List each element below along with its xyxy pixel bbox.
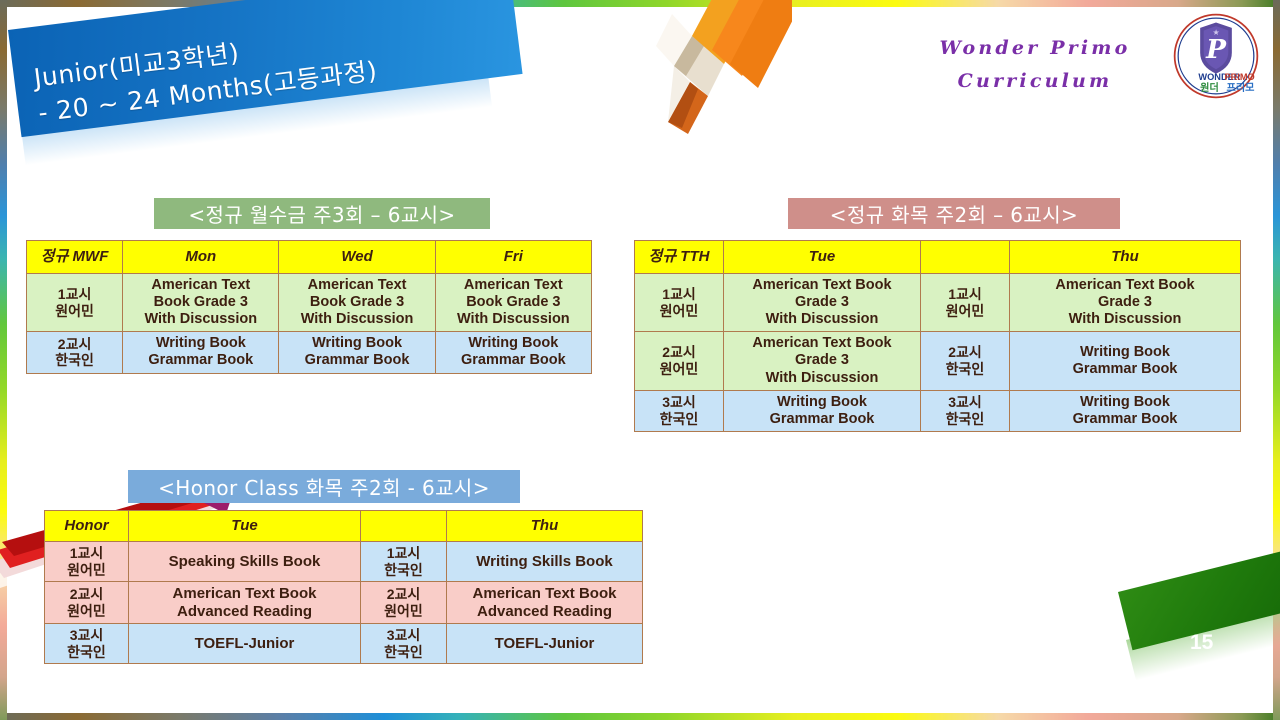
period-label: 2교시 원어민 — [361, 582, 447, 624]
column-header-mon: Mon — [123, 241, 279, 274]
slide-border-left — [0, 0, 7, 720]
column-header-fri: Fri — [435, 241, 591, 274]
slide-border-bottom — [0, 713, 1280, 720]
table-row: 3교시 한국인 Writing Book Grammar Book 3교시 한국… — [635, 390, 1241, 431]
subject-cell: American Text Book Advanced Reading — [447, 582, 643, 624]
subject-cell: Writing Book Grammar Book — [1010, 390, 1241, 431]
period-label: 3교시 한국인 — [361, 624, 447, 664]
column-header-label: 정규 MWF — [27, 241, 123, 274]
schedule-table-honor: Honor Tue Thu 1교시 원어민 Speaking Skills Bo… — [44, 510, 643, 664]
section-title-mwf: <정규 월수금 주3회 – 6교시> — [154, 198, 490, 229]
subject-cell: Writing Book Grammar Book — [1010, 332, 1241, 390]
subject-cell: Writing Book Grammar Book — [279, 332, 435, 373]
subject-cell: American Text Book Grade 3 With Discussi… — [724, 274, 921, 332]
wonder-primo-logo-icon: P ★ WONDER PRIMO 원더 프리모 — [1172, 12, 1260, 100]
logo-korean-right: 프리모 — [1227, 81, 1256, 94]
subject-cell: American Text Book Grade 3 With Discussi… — [1010, 274, 1241, 332]
subject-cell: Writing Book Grammar Book — [123, 332, 279, 373]
column-header-label: 정규 TTH — [635, 241, 724, 274]
logo-korean-left: 원더 — [1200, 81, 1219, 94]
period-label: 2교시 한국인 — [921, 332, 1010, 390]
table-row: 2교시 한국인 Writing Book Grammar Book Writin… — [27, 332, 592, 373]
column-header-tue: Tue — [724, 241, 921, 274]
subject-cell: Writing Book Grammar Book — [724, 390, 921, 431]
column-header-wed: Wed — [279, 241, 435, 274]
table-row: 3교시 한국인 TOEFL-Junior 3교시 한국인 TOEFL-Junio… — [45, 624, 643, 664]
schedule-table-tth: 정규 TTH Tue Thu 1교시 원어민 American Text Boo… — [634, 240, 1241, 432]
logo-monogram: P — [1205, 34, 1227, 65]
column-header-thu: Thu — [447, 511, 643, 542]
subject-cell: Writing Skills Book — [447, 542, 643, 582]
logo-english-right: PRIMO — [1224, 72, 1254, 82]
section-title-tth: <정규 화목 주2회 – 6교시> — [788, 198, 1120, 229]
period-label: 1교시 원어민 — [635, 274, 724, 332]
period-label: 2교시 원어민 — [45, 582, 129, 624]
table-row: 1교시 원어민 American Text Book Grade 3 With … — [635, 274, 1241, 332]
subject-cell: Speaking Skills Book — [129, 542, 361, 582]
subject-cell: American Text Book Grade 3 With Discussi… — [123, 274, 279, 332]
column-header-label: Honor — [45, 511, 129, 542]
subject-cell: Writing Book Grammar Book — [435, 332, 591, 373]
brand-wordmark: Wonder Primo Curriculum — [905, 32, 1165, 99]
period-label: 1교시 원어민 — [921, 274, 1010, 332]
brand-line-1: Wonder Primo — [905, 32, 1165, 65]
brand-line-2: Curriculum — [905, 65, 1165, 98]
period-label: 2교시 한국인 — [27, 332, 123, 373]
table-header-row: 정규 MWF Mon Wed Fri — [27, 241, 592, 274]
slide-canvas: Junior(미교3학년) - 20 ~ 24 Months(고등과정) Won… — [0, 0, 1280, 720]
schedule-table-mwf: 정규 MWF Mon Wed Fri 1교시 원어민 American Text… — [26, 240, 592, 374]
table-row: 2교시 원어민 American Text Book Grade 3 With … — [635, 332, 1241, 390]
column-header-thu: Thu — [1010, 241, 1241, 274]
subject-cell: TOEFL-Junior — [129, 624, 361, 664]
table-row: 1교시 원어민 Speaking Skills Book 1교시 한국인 Wri… — [45, 542, 643, 582]
orange-pencil-graphic — [612, 0, 792, 144]
period-label: 1교시 원어민 — [45, 542, 129, 582]
subject-cell: American Text Book Grade 3 With Discussi… — [724, 332, 921, 390]
period-label: 1교시 원어민 — [27, 274, 123, 332]
subject-cell: American Text Book Advanced Reading — [129, 582, 361, 624]
section-title-honor: <Honor Class 화목 주2회 - 6교시> — [128, 470, 520, 503]
period-label: 1교시 한국인 — [361, 542, 447, 582]
svg-text:★: ★ — [1212, 28, 1219, 37]
table-row: 1교시 원어민 American Text Book Grade 3 With … — [27, 274, 592, 332]
column-header-tue: Tue — [129, 511, 361, 542]
table-header-row: Honor Tue Thu — [45, 511, 643, 542]
column-header-blank — [361, 511, 447, 542]
subject-cell: TOEFL-Junior — [447, 624, 643, 664]
table-row: 2교시 원어민 American Text Book Advanced Read… — [45, 582, 643, 624]
subject-cell: American Text Book Grade 3 With Discussi… — [279, 274, 435, 332]
period-label: 3교시 한국인 — [45, 624, 129, 664]
table-header-row: 정규 TTH Tue Thu — [635, 241, 1241, 274]
period-label: 3교시 한국인 — [921, 390, 1010, 431]
subject-cell: American Text Book Grade 3 With Discussi… — [435, 274, 591, 332]
period-label: 3교시 한국인 — [635, 390, 724, 431]
period-label: 2교시 원어민 — [635, 332, 724, 390]
page-number: 15 — [1190, 631, 1213, 655]
column-header-blank — [921, 241, 1010, 274]
